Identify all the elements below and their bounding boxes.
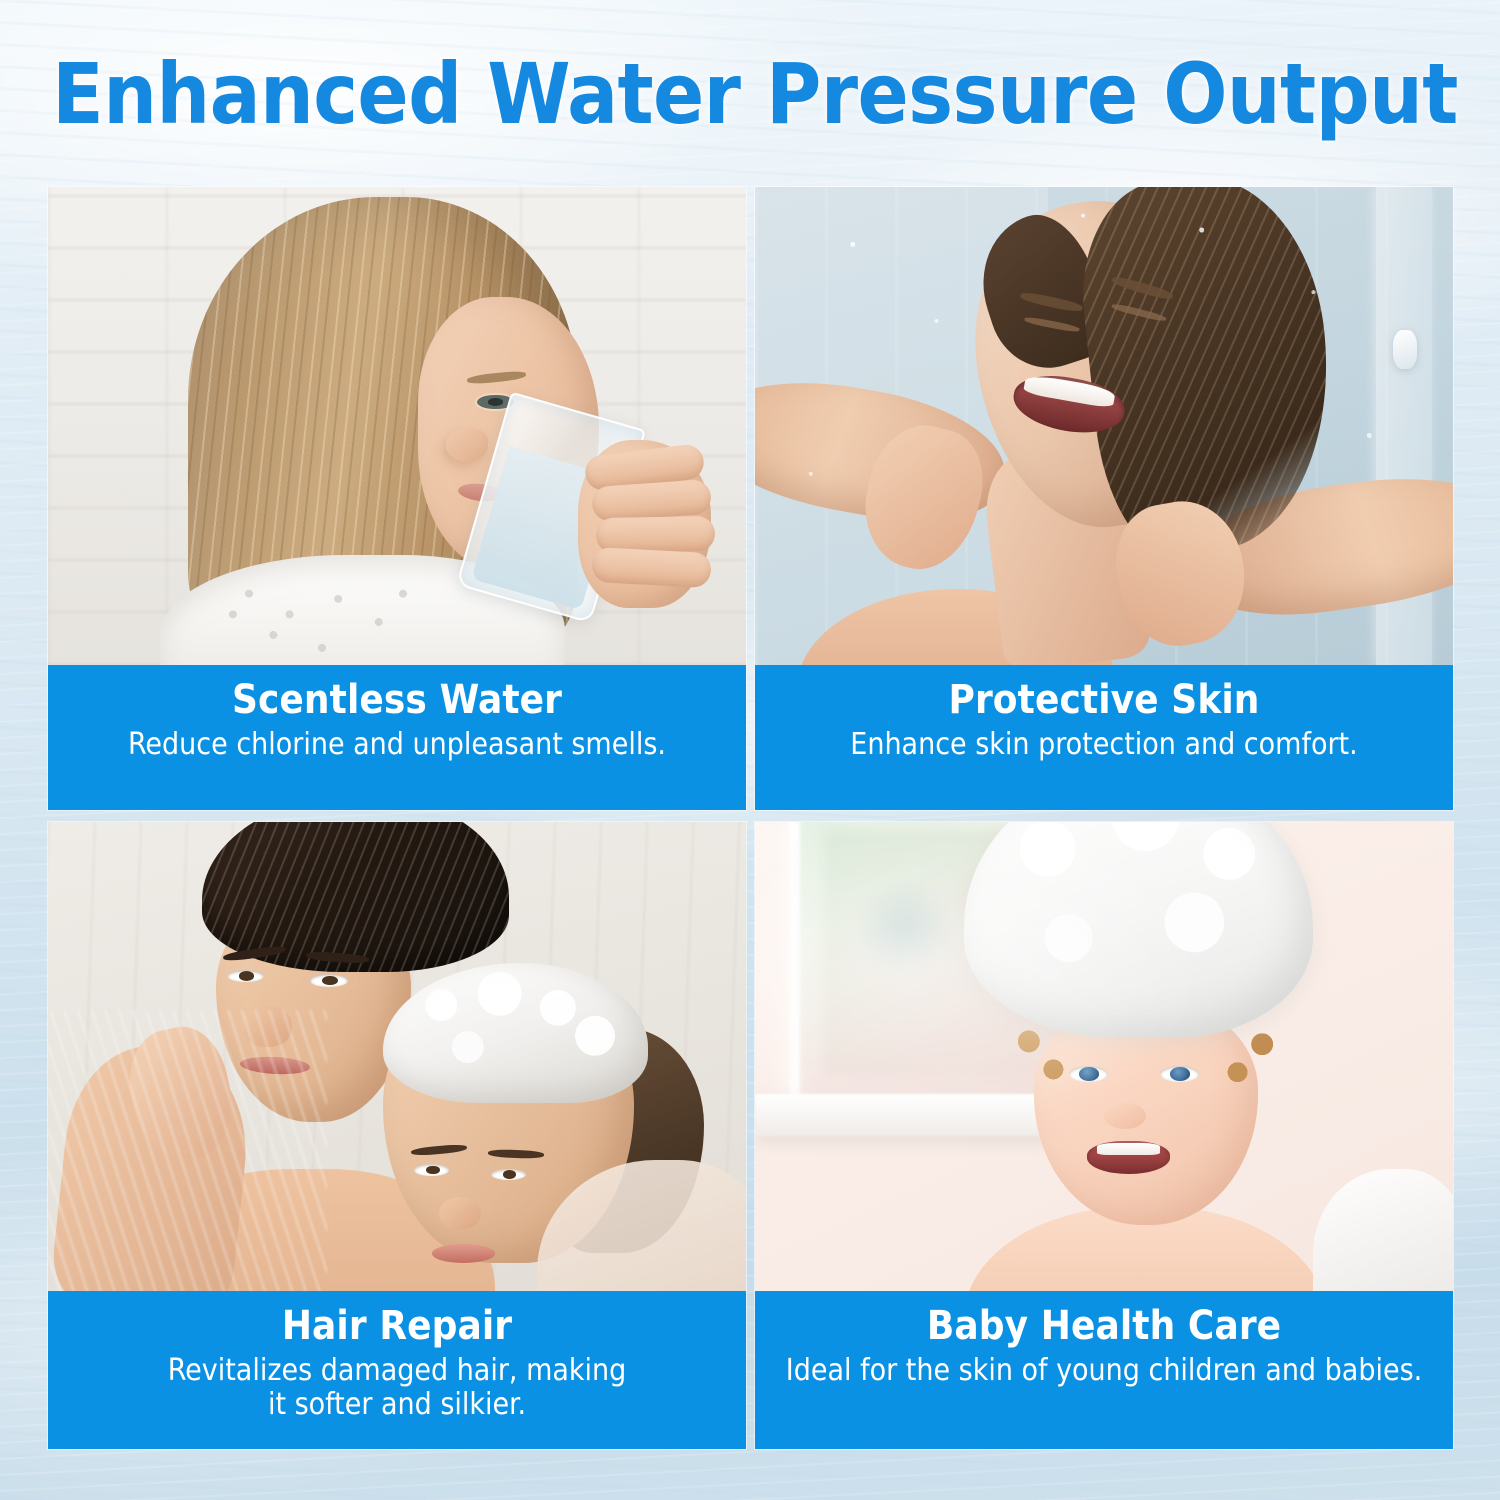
caption-title: Protective Skin (773, 679, 1435, 722)
baby-eye (1069, 1066, 1108, 1082)
photo-couple-washing-hair (48, 822, 746, 1291)
feature-card-baby-health-care[interactable]: Baby Health Care Ideal for the skin of y… (755, 822, 1453, 1449)
woman-eye (414, 1164, 449, 1175)
baby-nose (1104, 1103, 1146, 1129)
feature-grid: Scentless Water Reduce chlorine and unpl… (48, 187, 1453, 1449)
caption-subtitle: Enhance skin protection and comfort. (773, 728, 1435, 762)
page-title: Enhanced Water Pressure Output (50, 46, 1460, 142)
baby-eye (1160, 1066, 1199, 1082)
feature-card-scentless-water[interactable]: Scentless Water Reduce chlorine and unpl… (48, 187, 746, 810)
baby-teeth (1097, 1143, 1160, 1155)
caption-title: Scentless Water (66, 679, 728, 722)
side-foam (1313, 1169, 1453, 1291)
woman-lips (432, 1244, 495, 1263)
man-eye (310, 974, 348, 986)
water-droplets (755, 187, 1453, 665)
photo-woman-in-shower (755, 187, 1453, 665)
photo-baby-with-foam (755, 822, 1453, 1291)
caption-subtitle: Reduce chlorine and unpleasant smells. (66, 728, 728, 762)
caption-subtitle-line-1: Revitalizes damaged hair, making (66, 1354, 728, 1388)
caption-title: Hair Repair (66, 1305, 728, 1348)
caption-subtitle: Ideal for the skin of young children and… (773, 1354, 1435, 1388)
caption-protective-skin: Protective Skin Enhance skin protection … (755, 665, 1453, 810)
finger (592, 547, 712, 589)
water-spray (48, 1010, 327, 1291)
caption-hair-repair: Hair Repair Revitalizes damaged hair, ma… (48, 1291, 746, 1449)
caption-baby-health-care: Baby Health Care Ideal for the skin of y… (755, 1291, 1453, 1449)
caption-scentless-water: Scentless Water Reduce chlorine and unpl… (48, 665, 746, 810)
man-eye (227, 970, 265, 982)
infographic-root: Enhanced Water Pressure Output (0, 0, 1500, 1500)
photo-girl-drinking-water (48, 187, 746, 665)
girl-nose (446, 428, 488, 461)
caption-subtitle-line-2: it softer and silkier. (66, 1388, 728, 1422)
woman-nose (439, 1197, 481, 1230)
foam-hat (964, 822, 1313, 1038)
feature-card-hair-repair[interactable]: Hair Repair Revitalizes damaged hair, ma… (48, 822, 746, 1449)
caption-title: Baby Health Care (773, 1305, 1435, 1348)
feature-card-protective-skin[interactable]: Protective Skin Enhance skin protection … (755, 187, 1453, 810)
